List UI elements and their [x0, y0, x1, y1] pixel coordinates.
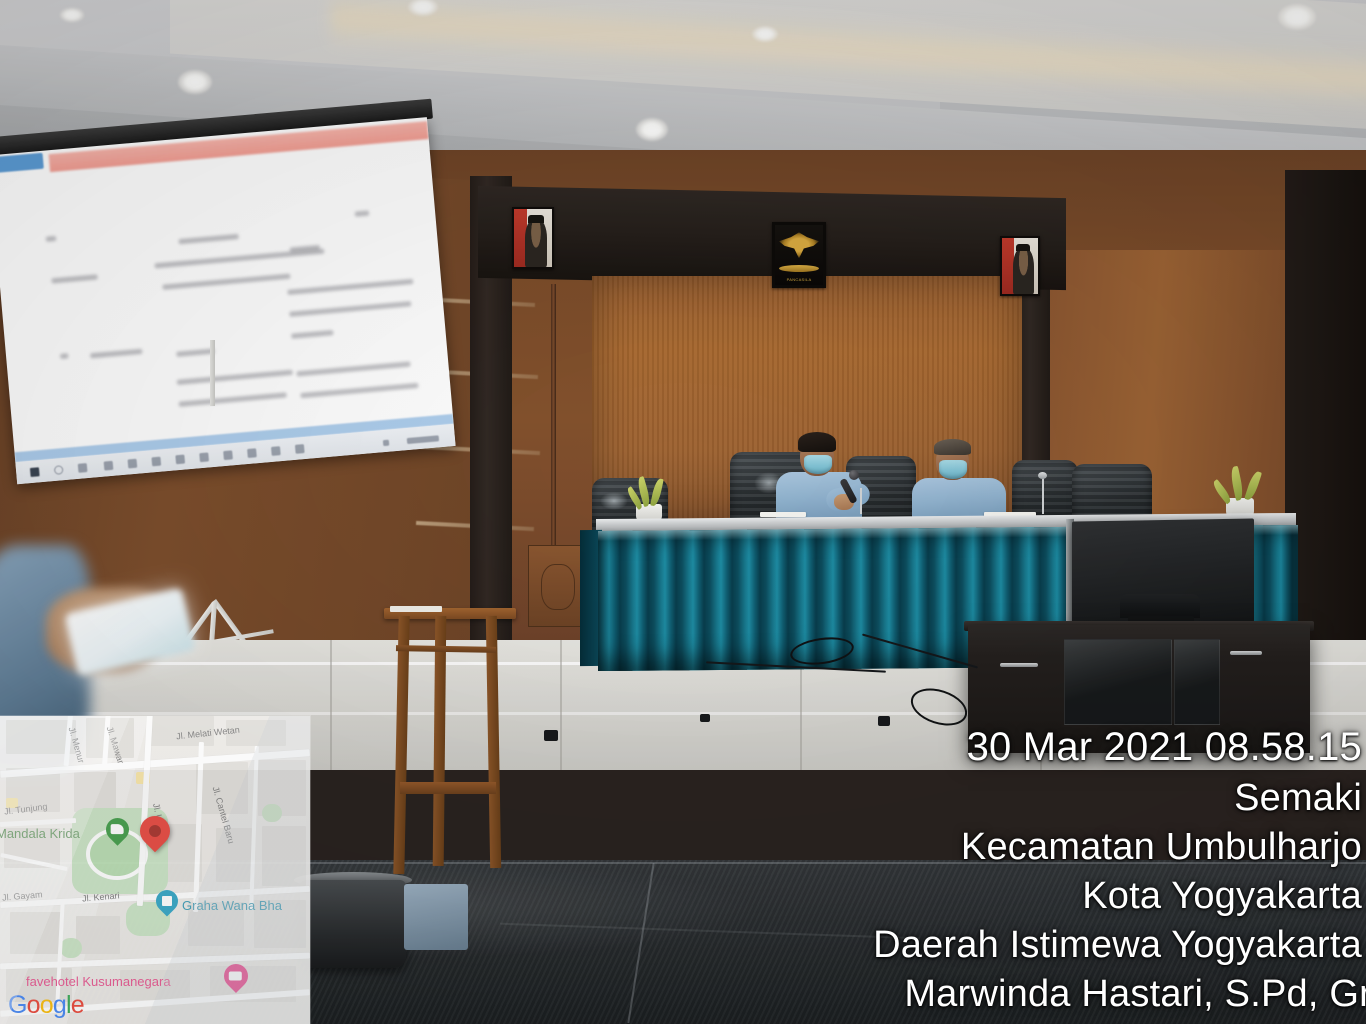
paper-on-stool — [390, 606, 442, 612]
graha-wana-bha-label: Graha Wana Bha — [182, 898, 282, 913]
doc-text-line — [176, 349, 214, 357]
mandala-krida-label: Mandala Krida — [0, 826, 80, 841]
google-letter-g2: g — [53, 991, 66, 1019]
downlight — [1278, 4, 1316, 30]
doc-text-line — [289, 301, 411, 317]
portrait-figure — [525, 219, 547, 267]
downlight — [60, 8, 84, 22]
downlight — [636, 118, 668, 141]
doc-text-line — [296, 361, 410, 376]
stool-lower-shelf — [400, 782, 496, 794]
cabinet-glass-door[interactable] — [1174, 639, 1220, 725]
doc-text-line — [287, 279, 413, 295]
browser-icon[interactable] — [128, 459, 138, 469]
garuda-scroll-icon — [779, 265, 819, 272]
doc-text-line — [51, 274, 97, 283]
map-green-patch — [262, 804, 282, 822]
metal-bucket — [300, 880, 406, 968]
tv-rear-housing — [1120, 594, 1200, 618]
projection-screen — [0, 111, 464, 509]
wooden-podium-base — [528, 545, 588, 627]
doc-text-line — [355, 211, 369, 217]
official-face-mask — [939, 460, 967, 479]
google-letter-g: G — [8, 991, 27, 1019]
powerpoint-icon[interactable] — [247, 448, 257, 458]
floor-connector — [700, 714, 710, 722]
clock-readout — [407, 435, 439, 444]
task-view-icon[interactable] — [78, 463, 88, 473]
speaker-face-mask — [804, 455, 832, 474]
photo-canvas: PANCASILA — [0, 0, 1366, 1024]
tile-grout — [560, 640, 562, 770]
table-microphone-head-icon — [1038, 472, 1047, 479]
blue-box-object — [404, 884, 468, 950]
google-logo: Google — [8, 991, 84, 1020]
timestamp-person: Marwinda Hastari, S.Pd, Gr — [652, 975, 1366, 1013]
garuda-pancasila-emblem: PANCASILA — [772, 222, 826, 288]
doc-text-line — [300, 383, 418, 398]
tile-grout — [330, 640, 332, 770]
doc-text-line — [177, 370, 293, 385]
timestamp-district: Kecamatan Umbulharjo — [642, 828, 1362, 866]
app-icon[interactable] — [271, 446, 281, 456]
floor-connector — [544, 730, 558, 741]
google-letter-e: e — [71, 991, 84, 1019]
cabinet-glass-door[interactable] — [1064, 639, 1172, 725]
garuda-caption: PANCASILA — [775, 277, 823, 282]
chair-highlight — [600, 492, 628, 510]
paper-on-table — [760, 512, 806, 517]
portrait-cap — [1016, 244, 1030, 252]
portrait-figure — [1013, 248, 1034, 294]
timestamp-village: Semaki — [642, 779, 1362, 817]
start-icon[interactable] — [30, 467, 40, 477]
doc-text-line — [162, 274, 290, 290]
system-tray-icon[interactable] — [383, 440, 390, 447]
doc-text-line — [179, 234, 239, 244]
gps-map-overlay[interactable]: Jl. Melati Wetan Jl. Menur Jl. Mawar Jl.… — [0, 716, 310, 1024]
timestamp-city: Kota Yogyakarta — [642, 877, 1362, 915]
official-hair — [934, 439, 971, 455]
word-icon[interactable] — [199, 452, 209, 462]
floor-connector — [878, 716, 890, 726]
google-letter-o2: o — [40, 991, 53, 1019]
portrait-cap — [528, 215, 543, 223]
timestamp-datetime: 30 Mar 2021 08.58.15 — [642, 727, 1362, 767]
map-block — [74, 772, 116, 812]
google-letter-o1: o — [27, 991, 40, 1019]
microphone-head-icon — [849, 470, 859, 480]
app-tab-icon — [0, 153, 44, 173]
cabinet-handle[interactable] — [1000, 663, 1038, 667]
doc-text-line — [46, 236, 56, 242]
excel-icon[interactable] — [223, 450, 233, 460]
table-microphone-stem — [860, 488, 862, 514]
file-explorer-icon[interactable] — [104, 461, 114, 471]
doc-text-line — [90, 349, 142, 359]
map-block — [262, 826, 306, 886]
mail-icon[interactable] — [151, 457, 161, 467]
doc-text-line — [60, 353, 68, 359]
app-icon-2[interactable] — [295, 444, 305, 454]
favehotel-label: favehotel Kusumanegara — [26, 974, 171, 989]
speaker-hair — [798, 432, 836, 452]
store-icon[interactable] — [175, 455, 185, 465]
president-portrait — [512, 207, 554, 269]
vice-president-portrait — [1000, 236, 1040, 296]
cortana-search-icon[interactable] — [54, 465, 64, 475]
downlight — [752, 26, 778, 42]
projected-image — [0, 117, 456, 484]
map-green-patch — [60, 938, 82, 958]
map-block — [76, 916, 120, 954]
table-microphone-stem — [1042, 478, 1044, 514]
doc-text-line — [291, 330, 333, 339]
cabinet-handle[interactable] — [1230, 651, 1262, 655]
garuda-bird-icon — [779, 232, 819, 258]
map-block — [10, 912, 62, 954]
timestamp-province: Daerah Istimewa Yogyakarta — [642, 926, 1362, 964]
stool-leg — [433, 616, 447, 866]
downlight — [178, 70, 212, 94]
doc-text-line — [179, 392, 287, 406]
screen-center-pole — [210, 340, 215, 406]
